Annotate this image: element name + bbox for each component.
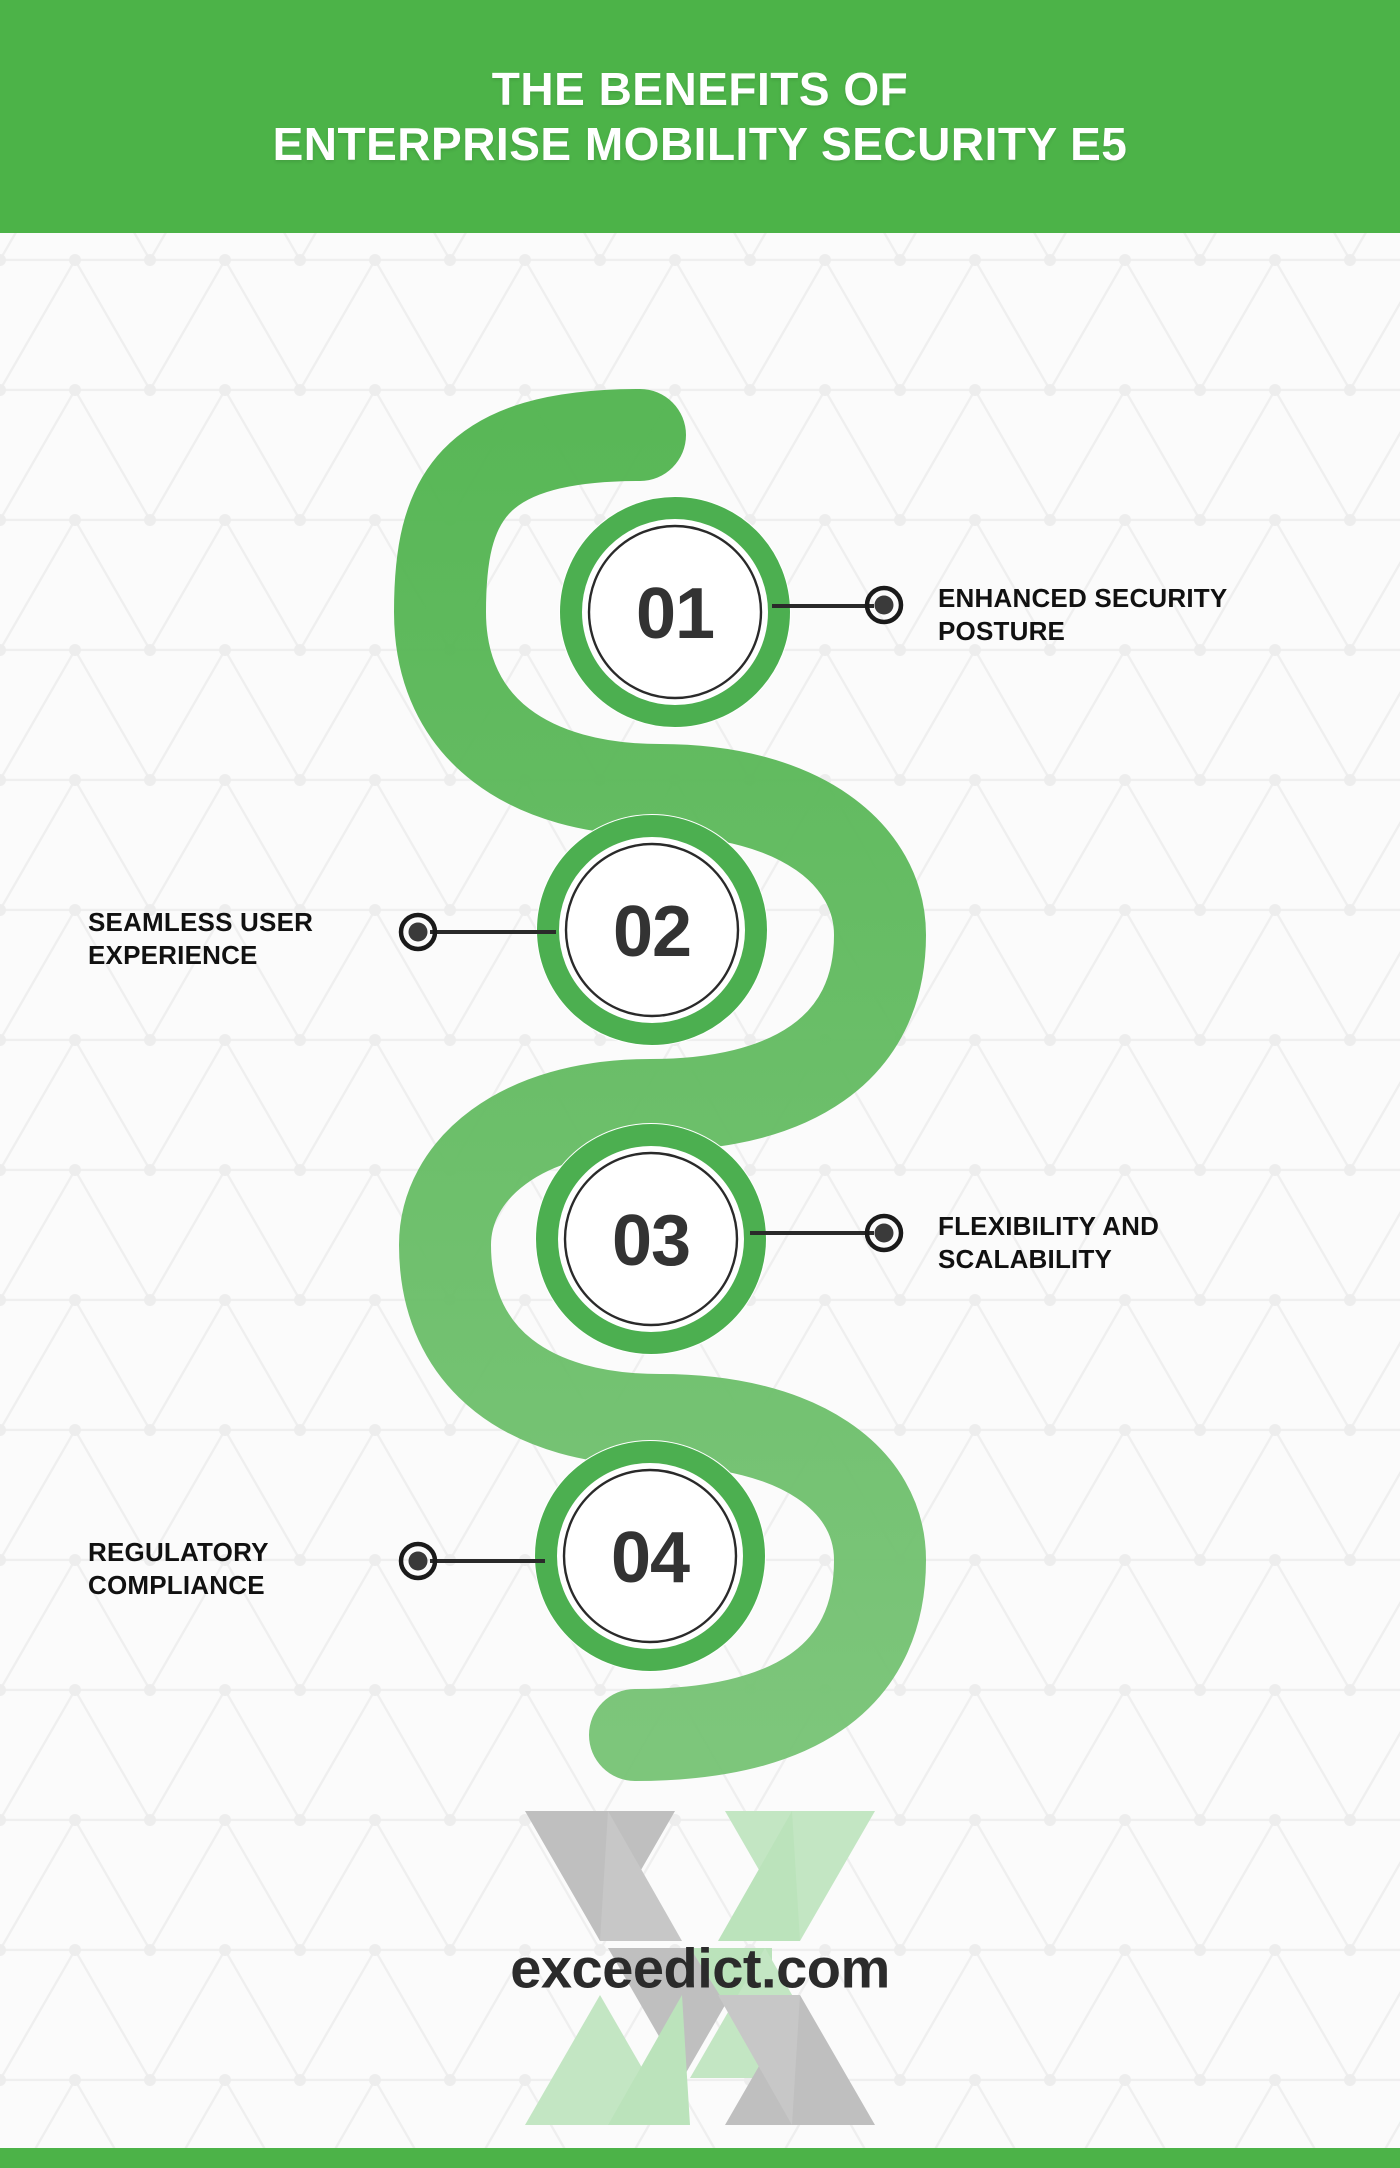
step-node-01 — [559, 496, 791, 728]
step-label-04: REGULATORY COMPLIANCE — [88, 1536, 269, 1603]
footer-branding: exceedict.com — [0, 1788, 1400, 2148]
step-label-01: ENHANCED SECURITY POSTURE — [938, 582, 1227, 649]
header-banner: THE BENEFITS OF ENTERPRISE MOBILITY SECU… — [0, 0, 1400, 233]
header-title-line-2: ENTERPRISE MOBILITY SECURITY E5 — [273, 117, 1128, 171]
step-label-02: SEAMLESS USER EXPERIENCE — [88, 906, 313, 973]
step-node-03 — [535, 1123, 767, 1355]
step-node-02 — [536, 814, 768, 1046]
header-title-line-1: THE BENEFITS OF — [492, 62, 908, 116]
step-node-04 — [534, 1440, 766, 1672]
footer-green-bar — [0, 2148, 1400, 2168]
connector-02 — [401, 915, 556, 949]
connector-03 — [750, 1216, 901, 1250]
step-label-03: FLEXIBILITY AND SCALABILITY — [938, 1210, 1159, 1277]
connector-04 — [401, 1544, 545, 1578]
site-url: exceedict.com — [510, 1936, 889, 2001]
connector-01 — [772, 588, 901, 622]
